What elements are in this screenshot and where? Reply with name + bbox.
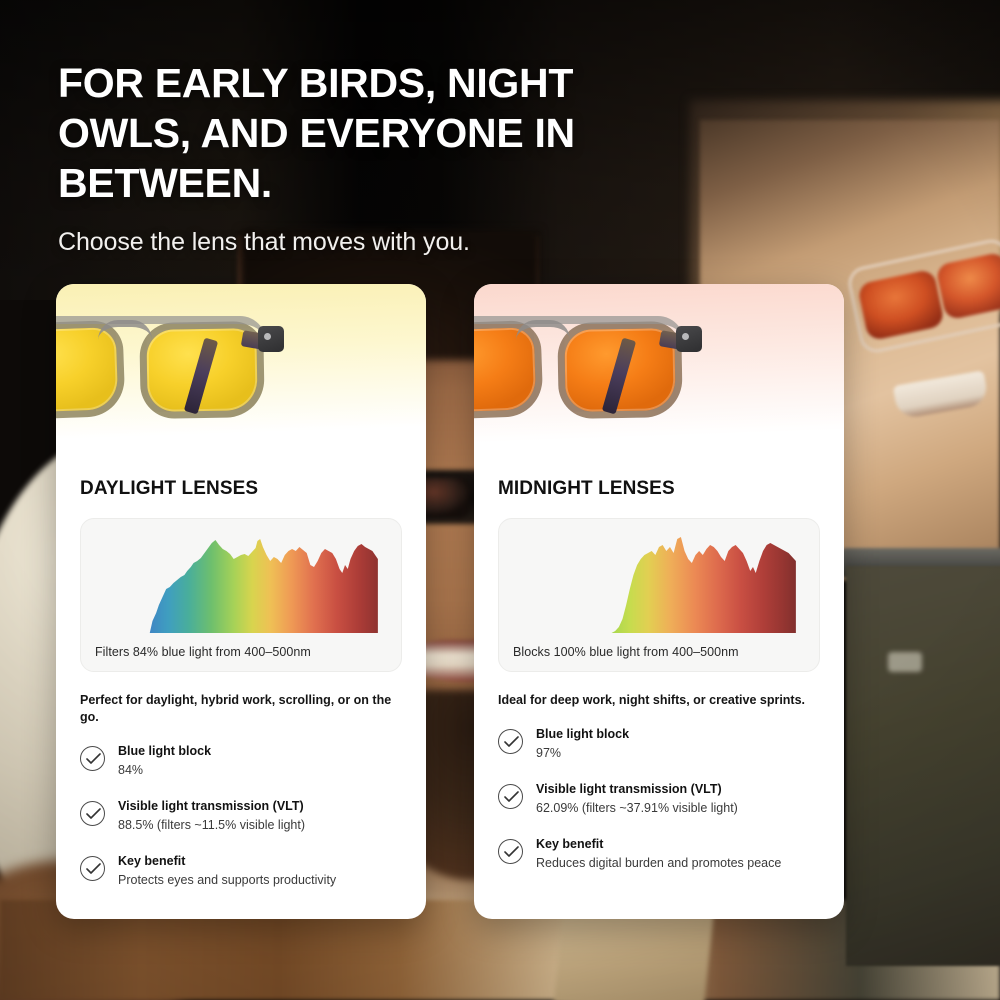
spectrum-caption-daylight: Filters 84% blue light from 400–500nm bbox=[95, 645, 387, 659]
check-circle-icon bbox=[80, 856, 105, 881]
spectrum-chart-daylight bbox=[95, 533, 387, 633]
feature-list-daylight: Blue light block 84% Visible light trans… bbox=[80, 742, 402, 889]
card-body-daylight: DAYLIGHT LENSES bbox=[56, 452, 426, 919]
page-title: FOR EARLY BIRDS, NIGHT OWLS, AND EVERYON… bbox=[58, 58, 678, 208]
product-image-midnight bbox=[474, 284, 844, 452]
card-tagline-daylight: Perfect for daylight, hybrid work, scrol… bbox=[80, 692, 402, 726]
feature-value: 62.09% (filters ~37.91% visible light) bbox=[536, 800, 738, 817]
feature-label: Blue light block bbox=[118, 744, 211, 758]
feature-label: Key benefit bbox=[118, 854, 185, 868]
lens-card-midnight[interactable]: MIDNIGHT LENSES bbox=[474, 284, 844, 919]
feature-list-midnight: Blue light block 97% Visible light trans… bbox=[498, 725, 820, 872]
frame-hinge-screw bbox=[682, 333, 689, 340]
feature-value: 84% bbox=[118, 762, 211, 779]
spectrum-chart-midnight bbox=[513, 533, 805, 633]
check-circle-icon bbox=[498, 839, 523, 864]
feature-item: Key benefit Reduces digital burden and p… bbox=[498, 835, 820, 872]
spectrum-caption-midnight: Blocks 100% blue light from 400–500nm bbox=[513, 645, 805, 659]
feature-value: Protects eyes and supports productivity bbox=[118, 872, 336, 889]
feature-item: Blue light block 97% bbox=[498, 725, 820, 762]
check-circle-icon bbox=[80, 801, 105, 826]
frame-hinge bbox=[258, 326, 284, 352]
feature-value: 88.5% (filters ~11.5% visible light) bbox=[118, 817, 305, 834]
glasses-illustration-daylight bbox=[56, 306, 386, 436]
feature-item: Visible light transmission (VLT) 62.09% … bbox=[498, 780, 820, 817]
card-tagline-midnight: Ideal for deep work, night shifts, or cr… bbox=[498, 692, 820, 709]
feature-value: 97% bbox=[536, 745, 629, 762]
page-subtitle: Choose the lens that moves with you. bbox=[58, 226, 678, 258]
frame-hinge-screw bbox=[264, 333, 271, 340]
feature-label: Blue light block bbox=[536, 727, 629, 741]
frame-brow bbox=[474, 316, 684, 342]
glasses-illustration-midnight bbox=[474, 306, 804, 436]
feature-item: Blue light block 84% bbox=[80, 742, 402, 779]
feature-item: Key benefit Protects eyes and supports p… bbox=[80, 852, 402, 889]
hero-text-block: FOR EARLY BIRDS, NIGHT OWLS, AND EVERYON… bbox=[58, 58, 678, 258]
frame-hinge bbox=[676, 326, 702, 352]
lens-card-daylight[interactable]: DAYLIGHT LENSES bbox=[56, 284, 426, 919]
feature-label: Visible light transmission (VLT) bbox=[118, 799, 304, 813]
feature-item: Visible light transmission (VLT) 88.5% (… bbox=[80, 797, 402, 834]
card-body-midnight: MIDNIGHT LENSES bbox=[474, 452, 844, 902]
feature-label: Visible light transmission (VLT) bbox=[536, 782, 722, 796]
check-circle-icon bbox=[498, 784, 523, 809]
product-image-daylight bbox=[56, 284, 426, 452]
spectrum-panel-midnight: Blocks 100% blue light from 400–500nm bbox=[498, 518, 820, 672]
lens-comparison-cards: DAYLIGHT LENSES bbox=[56, 284, 944, 919]
frame-bridge bbox=[516, 320, 570, 340]
check-circle-icon bbox=[498, 729, 523, 754]
card-title-midnight: MIDNIGHT LENSES bbox=[498, 478, 820, 500]
promo-graphic: FOR EARLY BIRDS, NIGHT OWLS, AND EVERYON… bbox=[0, 0, 1000, 1000]
card-title-daylight: DAYLIGHT LENSES bbox=[80, 478, 402, 500]
frame-bridge bbox=[98, 320, 152, 340]
feature-value: Reduces digital burden and promotes peac… bbox=[536, 855, 781, 872]
check-circle-icon bbox=[80, 746, 105, 771]
spectrum-panel-daylight: Filters 84% blue light from 400–500nm bbox=[80, 518, 402, 672]
frame-brow bbox=[56, 316, 266, 342]
feature-label: Key benefit bbox=[536, 837, 603, 851]
